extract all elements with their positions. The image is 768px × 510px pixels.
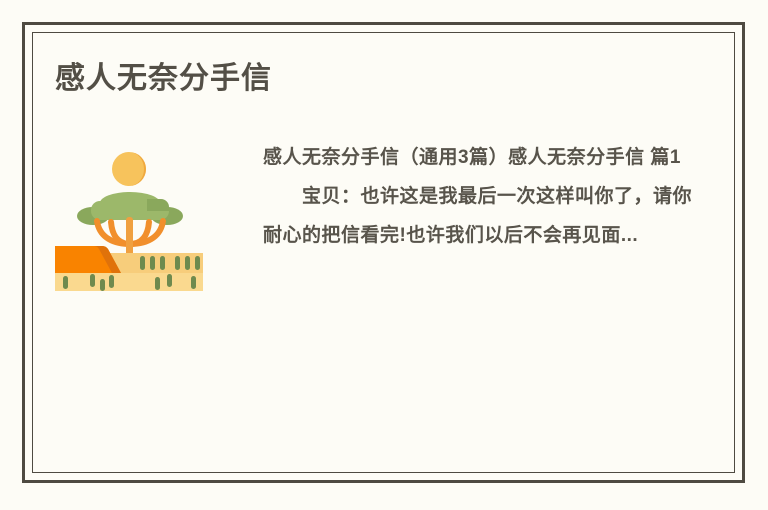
article-card: 感人无奈分手信 (22, 22, 745, 483)
article-thumbnail[interactable] (55, 143, 203, 291)
article-excerpt: 感人无奈分手信（通用3篇）感人无奈分手信 篇1 宝贝：也许这是我最后一次这样叫你… (263, 138, 693, 255)
sand-lower-band (55, 273, 203, 291)
savanna-landscape-illustration (55, 143, 203, 291)
canopy-shade-icon (147, 199, 169, 211)
page-title: 感人无奈分手信 (55, 61, 272, 97)
